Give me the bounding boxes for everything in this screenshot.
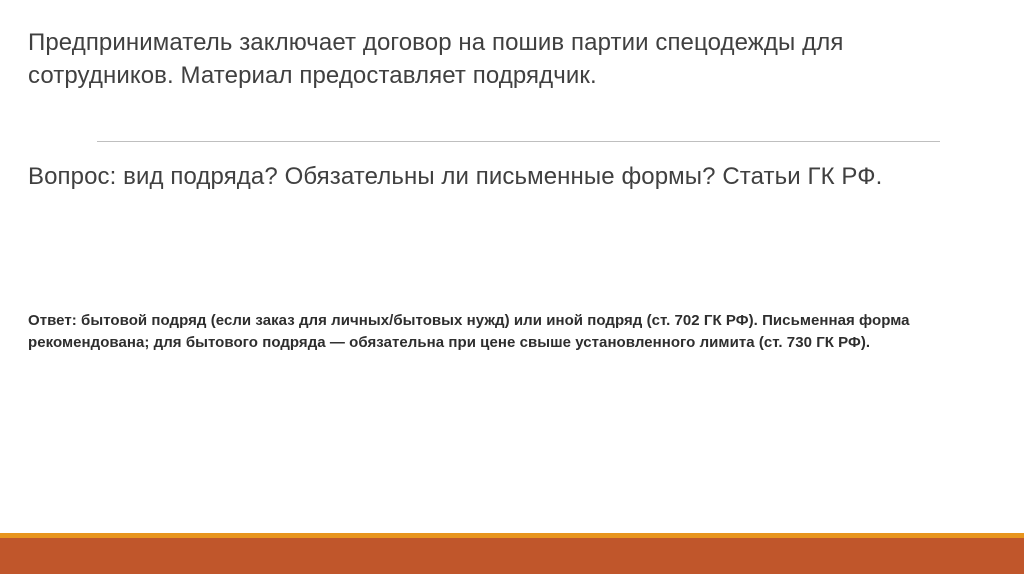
question-block: Вопрос: вид подряда? Обязательны ли пись… <box>28 160 918 193</box>
answer-block: Ответ: бытовой подряд (если заказ для ли… <box>28 310 938 354</box>
horizontal-divider <box>97 141 940 142</box>
answer-text: Ответ: бытовой подряд (если заказ для ли… <box>28 310 938 354</box>
scenario-block: Предприниматель заключает договор на пош… <box>28 26 918 92</box>
question-text: Вопрос: вид подряда? Обязательны ли пись… <box>28 160 918 193</box>
accent-bar-dark <box>0 538 1024 574</box>
scenario-text: Предприниматель заключает договор на пош… <box>28 26 918 92</box>
slide-canvas: Предприниматель заключает договор на пош… <box>0 0 1024 574</box>
